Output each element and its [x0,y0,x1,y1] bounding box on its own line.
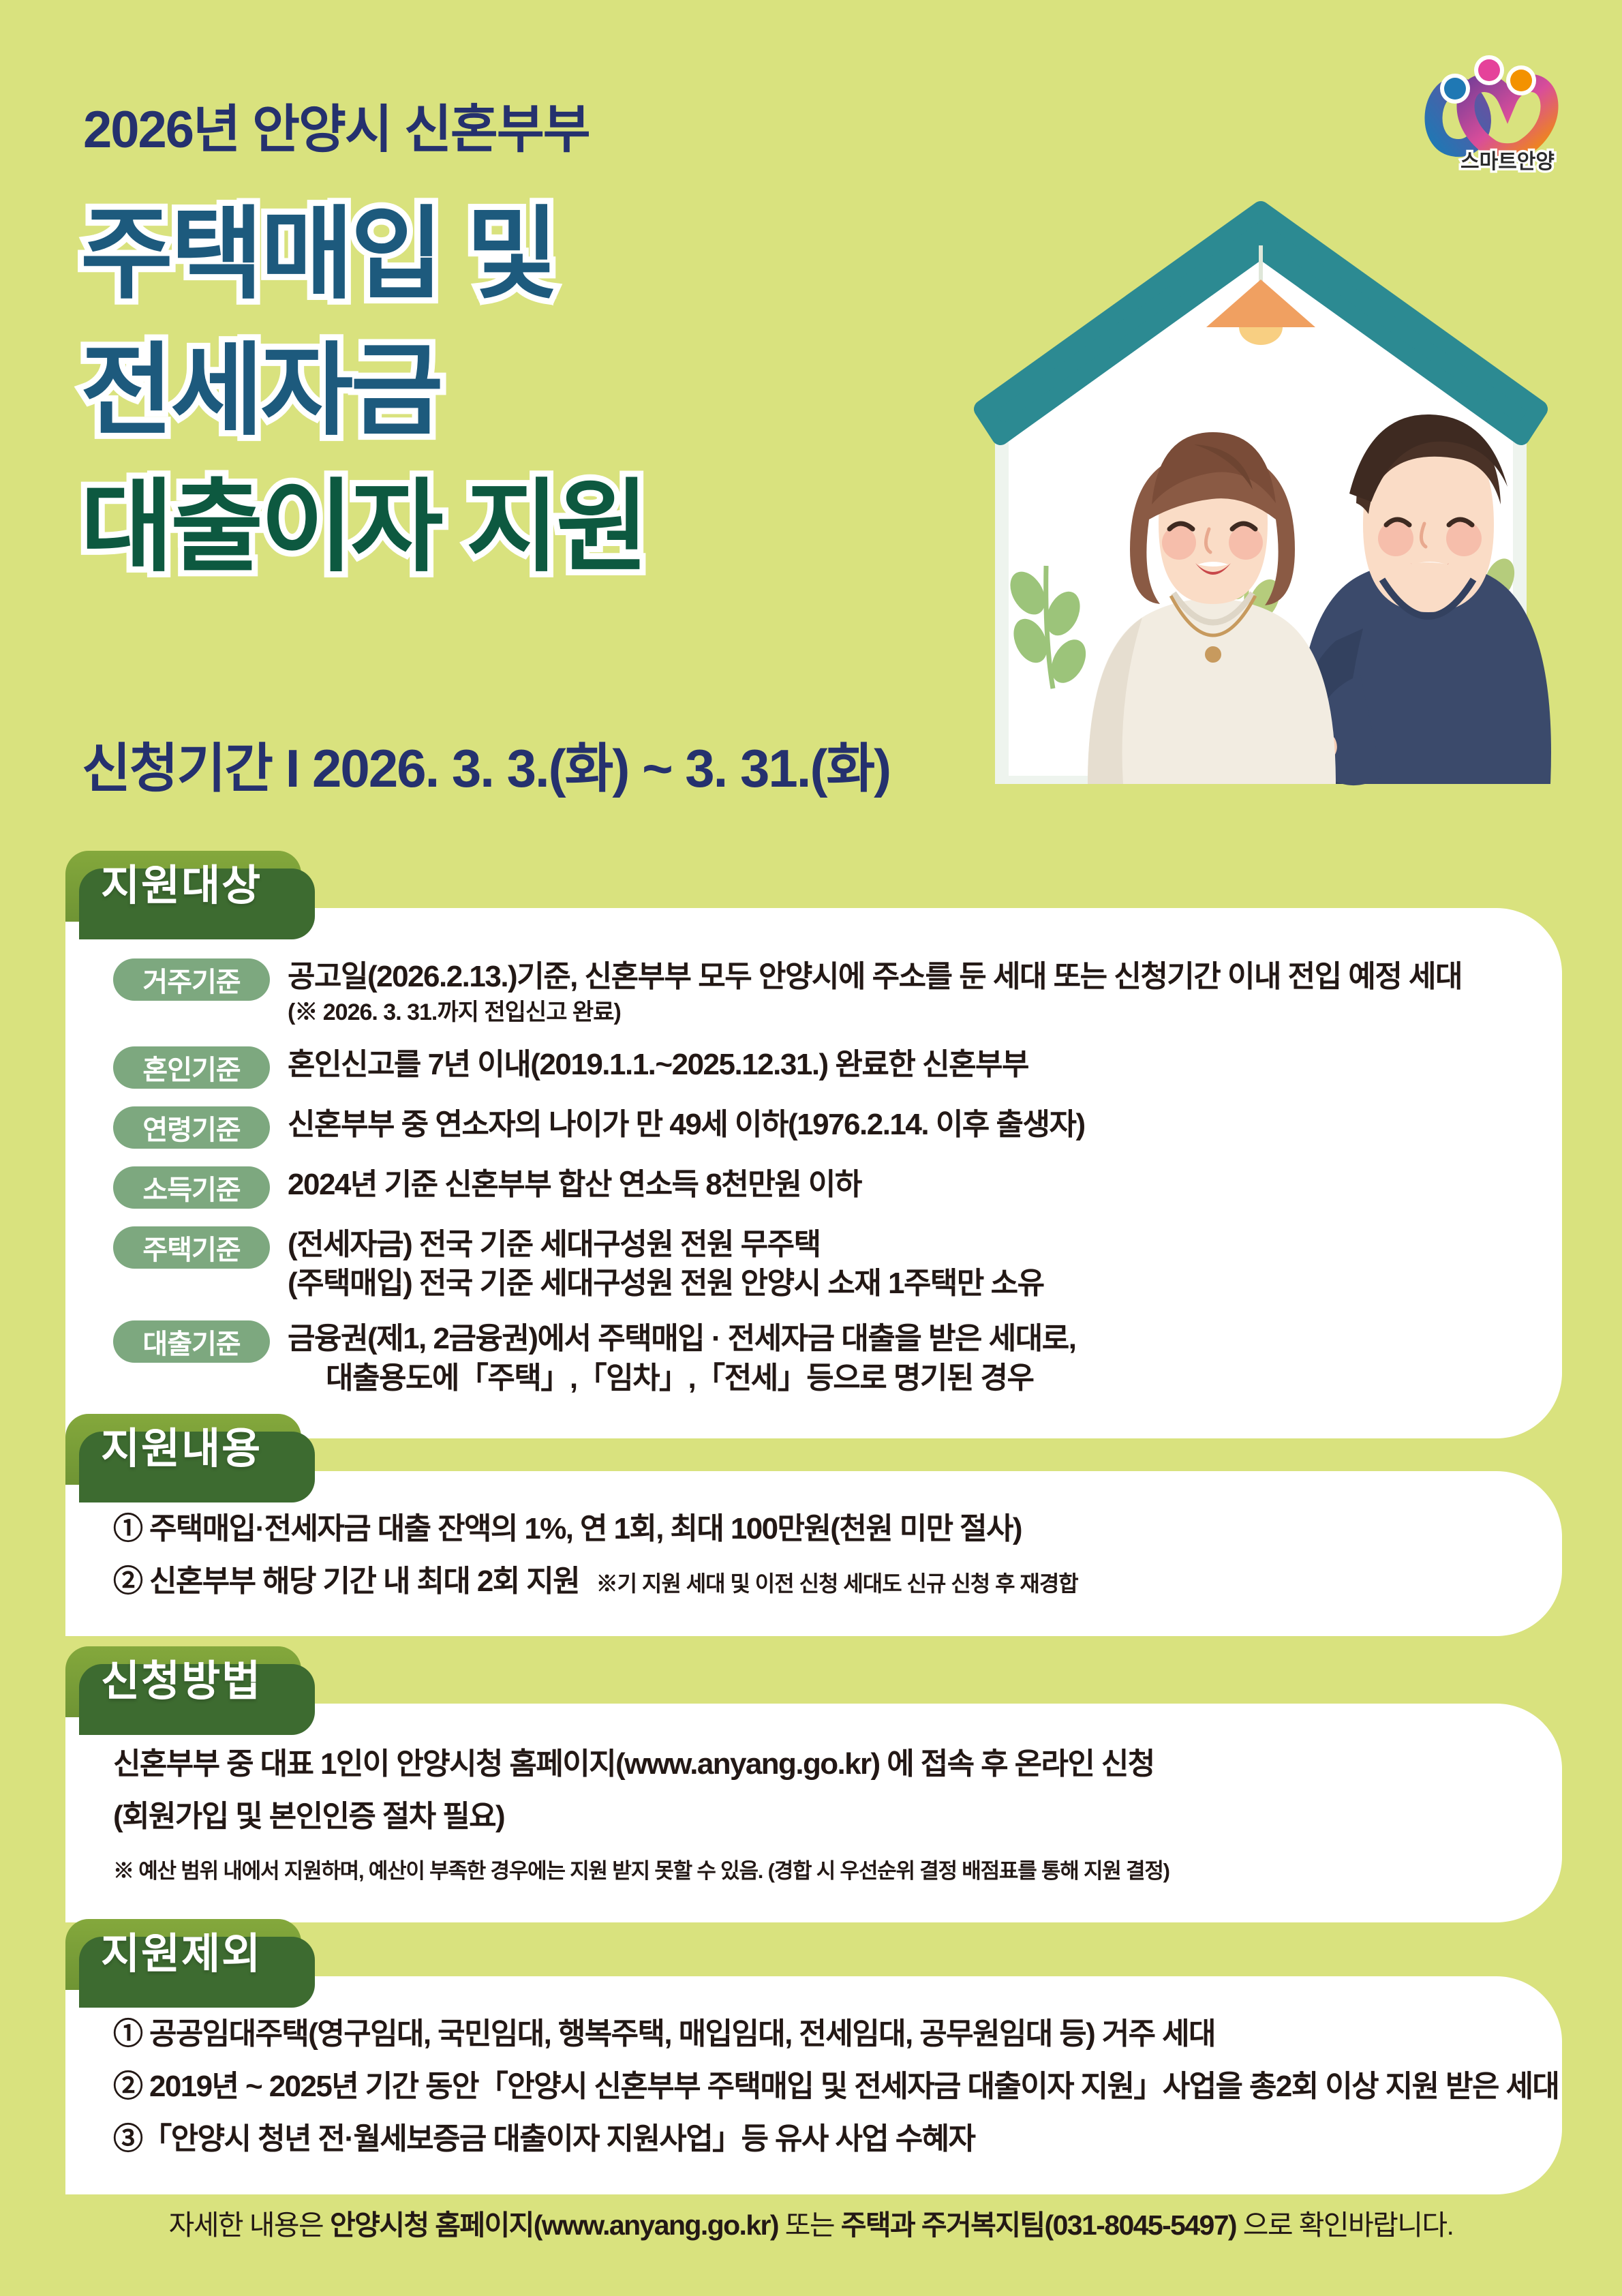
criteria-text: (전세자금) 전국 기준 세대구성원 전원 무주택 [288,1225,1521,1264]
section-tab-benefits: 지원내용 [65,1414,301,1485]
exclusion-line: ③「안양시 청년 전·월세보증금 대출이자 지원사업」등 유사 사업 수혜자 [113,2119,1521,2158]
section-card-how-to-apply: 신혼부부 중 대표 1인이 안양시청 홈페이지(www.anyang.go.kr… [65,1704,1562,1922]
application-period: 신청기간 I 2026. 3. 3.(화) ~ 3. 31.(화) [82,726,890,802]
eligibility-row: 소득기준 2024년 기준 신혼부부 합산 연소득 8천만원 이하 [113,1164,1521,1209]
criteria-text: 금융권(제1, 2금융권)에서 주택매입 · 전세자금 대출을 받은 세대로, [288,1319,1521,1358]
criteria-text: 2024년 기준 신혼부부 합산 연소득 8천만원 이하 [288,1165,1521,1204]
benefit-text: ① 주택매입·전세자금 대출 잔액의 1%, 연 1회, 최대 100만원(천원… [113,1512,1022,1545]
poster-title-line-2: 전세자금 [80,341,441,442]
benefit-note: ※기 지원 세대 및 이전 신청 세대도 신규 신청 후 재경합 [596,1571,1078,1596]
logo-caption: 스마트안양 [1443,145,1572,175]
section-eligibility: 지원대상 거주기준 공고일(2026.2.13.)기준, 신혼부부 모두 안양시… [65,851,1562,1438]
benefit-line: ① 주택매입·전세자금 대출 잔액의 1%, 연 1회, 최대 100만원(천원… [113,1509,1521,1548]
pill-label: 대출기준 [142,1322,240,1361]
exclusion-line: ② 2019년 ~ 2025년 기간 동안「안양시 신혼부부 주택매입 및 전세… [113,2067,1521,2106]
footer-department-phone: 주택과 주거복지팀(031-8045-5497) [841,2209,1236,2241]
section-tab-label: 지원대상 [101,851,266,922]
criteria-text: 신혼부부 중 연소자의 나이가 만 49세 이하(1976.2.14. 이후 출… [288,1105,1521,1144]
section-benefits: 지원내용 ① 주택매입·전세자금 대출 잔액의 1%, 연 1회, 최대 100… [65,1414,1562,1636]
section-tab-eligibility: 지원대상 [65,851,301,922]
couple-house-illustration [954,184,1567,798]
section-how-to-apply: 신청방법 신혼부부 중 대표 1인이 안양시청 홈페이지(www.anyang.… [65,1646,1562,1922]
pill-label: 주택기준 [142,1228,240,1267]
criteria-text-2: (주택매입) 전국 기준 세대구성원 전원 안양시 소재 1주택만 소유 [288,1264,1521,1303]
criteria-pill-residence: 거주기준 [113,958,270,1001]
benefit-line: ② 신혼부부 해당 기간 내 최대 2회 지원 ※기 지원 세대 및 이전 신청… [113,1562,1521,1601]
apply-line: (회원가입 및 본인인증 절차 필요) [113,1797,1521,1836]
eligibility-row: 혼인기준 혼인신고를 7년 이내(2019.1.1.~2025.12.31.) … [113,1044,1521,1089]
criteria-pill-age: 연령기준 [113,1106,270,1149]
eligibility-row: 대출기준 금융권(제1, 2금융권)에서 주택매입 · 전세자금 대출을 받은 … [113,1318,1521,1397]
criteria-pill-housing: 주택기준 [113,1226,270,1269]
pill-label: 연령기준 [142,1108,240,1147]
section-tab-how-to-apply: 신청방법 [65,1646,301,1717]
benefit-text: ② 신혼부부 해당 기간 내 최대 2회 지원 [113,1565,579,1598]
criteria-pill-marriage: 혼인기준 [113,1046,270,1089]
exclusion-line: ① 공공임대주택(영구임대, 국민임대, 행복주택, 매입임대, 전세임대, 공… [113,2014,1521,2053]
pill-label: 혼인기준 [142,1048,240,1087]
poster-root: 2026년 안양시 신혼부부 주택매입 및 전세자금 대출이자 지원 신청기간 … [0,0,1622,2296]
pill-label: 거주기준 [142,960,240,999]
footer-mid: 또는 [778,2209,841,2241]
criteria-text-2: 대출용도에「주택」,「임차」,「전세」등으로 명기된 경우 [288,1359,1521,1398]
footer-homepage: 안양시청 홈페이지(www.anyang.go.kr) [330,2209,778,2241]
poster-kicker: 2026년 안양시 신혼부부 [83,87,590,162]
criteria-text: 공고일(2026.2.13.)기준, 신혼부부 모두 안양시에 주소를 둔 세대… [288,957,1521,996]
poster-title-line-3: 대출이자 지원 [80,477,646,578]
eligibility-row: 주택기준 (전세자금) 전국 기준 세대구성원 전원 무주택 (주택매입) 전국… [113,1224,1521,1303]
eligibility-row: 연령기준 신혼부부 중 연소자의 나이가 만 49세 이하(1976.2.14.… [113,1104,1521,1149]
poster-title-line-1: 주택매입 및 [80,205,556,305]
section-tab-label: 지원제외 [101,1919,266,1990]
section-tab-label: 신청방법 [101,1646,266,1717]
section-card-eligibility: 거주기준 공고일(2026.2.13.)기준, 신혼부부 모두 안양시에 주소를… [65,908,1562,1438]
criteria-pill-income: 소득기준 [113,1166,270,1209]
section-tab-label: 지원내용 [101,1414,266,1485]
pill-label: 소득기준 [142,1168,240,1207]
apply-budget-note: ※ 예산 범위 내에서 지원하며, 예산이 부족한 경우에는 지원 받지 못할 … [113,1854,1521,1884]
eligibility-row: 거주기준 공고일(2026.2.13.)기준, 신혼부부 모두 안양시에 주소를… [113,956,1521,1029]
criteria-text: 혼인신고를 7년 이내(2019.1.1.~2025.12.31.) 완료한 신… [288,1045,1521,1084]
section-exclusions: 지원제외 ① 공공임대주택(영구임대, 국민임대, 행복주택, 매입임대, 전세… [65,1919,1562,2194]
section-tab-exclusions: 지원제외 [65,1919,301,1990]
criteria-pill-loan: 대출기준 [113,1320,270,1363]
section-card-exclusions: ① 공공임대주택(영구임대, 국민임대, 행복주택, 매입임대, 전세임대, 공… [65,1976,1562,2194]
smart-anyang-logo: 스마트안양 [1414,41,1564,170]
apply-line: 신혼부부 중 대표 1인이 안양시청 홈페이지(www.anyang.go.kr… [113,1744,1521,1783]
criteria-subtext: (※ 2026. 3. 31.까지 전입신고 완료) [288,997,1521,1029]
footer-contact: 자세한 내용은 안양시청 홈페이지(www.anyang.go.kr) 또는 주… [0,2202,1622,2243]
footer-prefix: 자세한 내용은 [169,2209,330,2241]
footer-suffix: 으로 확인바랍니다. [1236,2209,1453,2241]
